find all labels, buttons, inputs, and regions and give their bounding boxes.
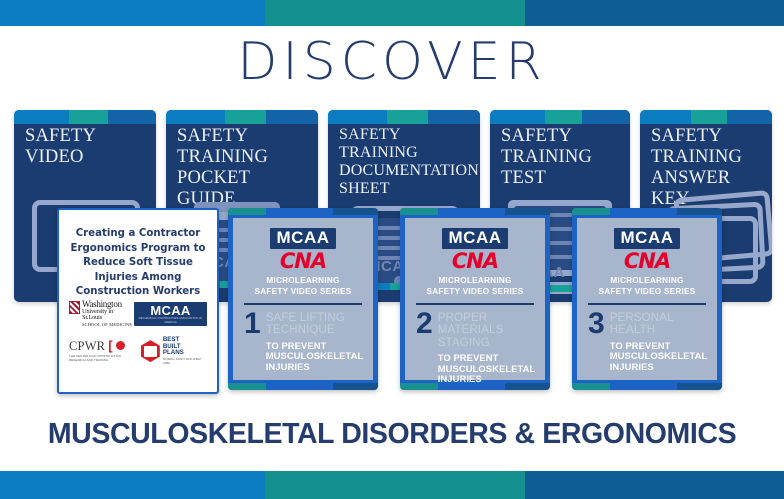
resource-card-title: SAFETY TRAINING TEST bbox=[501, 126, 622, 189]
video-card-top-strip bbox=[228, 208, 378, 215]
poster-canvas: DISCOVER SAFETY VIDEO SAFETY TRAINING PO… bbox=[0, 0, 784, 499]
card-color-strip bbox=[490, 110, 630, 124]
best-built-plans-hex-icon bbox=[141, 340, 160, 362]
card-color-strip bbox=[640, 110, 772, 124]
poster-subtitle: MUSCULOSKELETAL DISORDERS & ERGONOMICS bbox=[0, 418, 784, 451]
bottom-bar-segment-darkblue bbox=[525, 471, 784, 499]
mcaa-logo: MCAA bbox=[614, 228, 680, 249]
cpwr-bracket-icon: [ bbox=[108, 340, 112, 352]
cpwr-dot-icon bbox=[116, 341, 125, 350]
bbp-line3: PLANS bbox=[163, 350, 207, 357]
video-card-1[interactable]: MCAA CNA MICROLEARNING SAFETY VIDEO SERI… bbox=[228, 208, 378, 390]
video-card-bottom-strip bbox=[228, 383, 378, 390]
washington-university-logo: Washington University in St.Louis SCHOOL… bbox=[69, 300, 134, 327]
card-color-strip bbox=[166, 110, 318, 124]
video-number: 3 bbox=[588, 311, 605, 337]
mcaa-logo: MCAA bbox=[270, 228, 336, 249]
cna-logo: CNA bbox=[244, 250, 362, 273]
resource-card-title: SAFETY VIDEO bbox=[25, 126, 148, 168]
contractor-ergonomics-document-card[interactable]: Creating a Contractor Ergonomics Program… bbox=[57, 208, 219, 394]
video-number: 2 bbox=[416, 311, 433, 337]
divider bbox=[588, 303, 706, 305]
document-card-logos: Washington University in St.Louis SCHOOL… bbox=[69, 300, 207, 375]
video-purpose: TO PREVENT MUSCULOSKELETAL INJURIES bbox=[438, 353, 536, 385]
card-color-strip bbox=[14, 110, 156, 124]
video-purpose: TO PREVENT MUSCULOSKELETAL INJURIES bbox=[610, 341, 708, 373]
video-purpose: TO PREVENT MUSCULOSKELETAL INJURIES bbox=[266, 341, 364, 373]
video-series-label: MICROLEARNING SAFETY VIDEO SERIES bbox=[416, 276, 534, 297]
bottom-bar-segment-blue bbox=[0, 471, 265, 499]
divider bbox=[244, 303, 362, 305]
video-card-top-strip bbox=[400, 208, 550, 215]
cpwr-subtitle: THE CENTER FOR CONSTRUCTION RESEARCH AND… bbox=[69, 354, 135, 363]
washu-line3: SCHOOL OF MEDICINE bbox=[82, 323, 134, 327]
divider bbox=[416, 303, 534, 305]
video-topic: SAFE LIFTING TECHNIQUE bbox=[266, 312, 364, 337]
cna-logo: CNA bbox=[416, 250, 534, 273]
video-card-bottom-strip bbox=[400, 383, 550, 390]
bbp-subtitle: MATERIAL SAFETY DATA SHEET LABEL bbox=[163, 358, 207, 365]
mcaa-logo: MCAA bbox=[442, 228, 508, 249]
bottom-color-bar bbox=[0, 471, 784, 499]
document-card-title: Creating a Contractor Ergonomics Program… bbox=[69, 227, 207, 300]
video-number: 1 bbox=[244, 311, 261, 337]
top-bar-segment-teal bbox=[265, 0, 525, 26]
top-bar-segment-blue bbox=[0, 0, 265, 26]
mcaa-subtitle: MECHANICAL CONTRACTORS ASSOCIATION OF AM… bbox=[138, 317, 203, 325]
card-color-strip bbox=[328, 110, 480, 124]
top-color-bar bbox=[0, 0, 784, 26]
top-bar-segment-darkblue bbox=[525, 0, 784, 26]
mcaa-logo: MCAA MECHANICAL CONTRACTORS ASSOCIATION … bbox=[134, 302, 207, 326]
washu-crest-icon bbox=[69, 301, 80, 314]
mcaa-wordmark: MCAA bbox=[138, 304, 203, 317]
video-card-3[interactable]: MCAA CNA MICROLEARNING SAFETY VIDEO SERI… bbox=[572, 208, 722, 390]
video-card-2[interactable]: MCAA CNA MICROLEARNING SAFETY VIDEO SERI… bbox=[400, 208, 550, 390]
washu-line2: University in St.Louis bbox=[82, 309, 134, 322]
page-title: DISCOVER bbox=[0, 31, 784, 93]
video-card-top-strip bbox=[572, 208, 722, 215]
cpwr-wordmark: CPWR bbox=[69, 340, 105, 353]
video-series-label: MICROLEARNING SAFETY VIDEO SERIES bbox=[588, 276, 706, 297]
cpwr-logo: CPWR [ THE CENTER FOR CONSTRUCTION RESEA… bbox=[69, 340, 135, 363]
video-card-bottom-strip bbox=[572, 383, 722, 390]
bottom-bar-segment-teal bbox=[265, 471, 525, 499]
video-topic: PERSONAL HEALTH bbox=[610, 312, 708, 337]
video-series-label: MICROLEARNING SAFETY VIDEO SERIES bbox=[244, 276, 362, 297]
video-topic: PROPER MATERIALS STAGING bbox=[438, 312, 536, 350]
cna-logo: CNA bbox=[588, 250, 706, 273]
best-built-plans-logo: BEST BUILT PLANS MATERIAL SAFETY DATA SH… bbox=[141, 337, 207, 365]
